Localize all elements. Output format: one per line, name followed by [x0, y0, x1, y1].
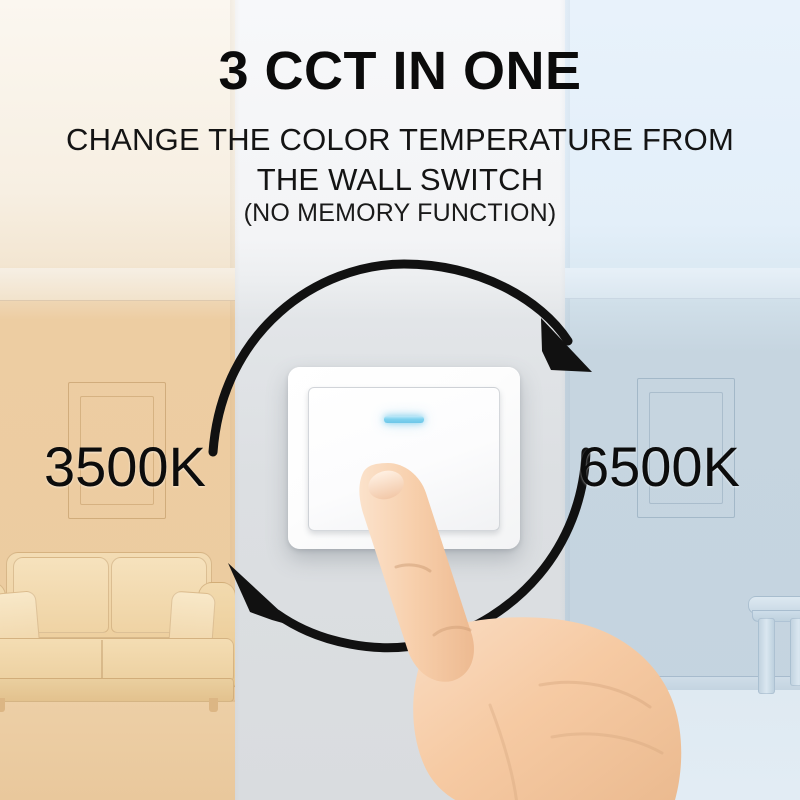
pressing-hand — [330, 455, 710, 800]
cct-label-warm: 3500K — [44, 434, 206, 499]
page-title: 3 CCT IN ONE — [0, 40, 800, 102]
cct-label-cool: 6500K — [578, 434, 740, 499]
memory-function-note: (NO MEMORY FUNCTION) — [0, 199, 800, 228]
led-indicator — [384, 416, 424, 423]
page-subtitle: CHANGE THE COLOR TEMPERATURE FROM THE WA… — [48, 120, 752, 199]
infographic-canvas: 3 CCT IN ONE CHANGE THE COLOR TEMPERATUR… — [0, 0, 800, 800]
